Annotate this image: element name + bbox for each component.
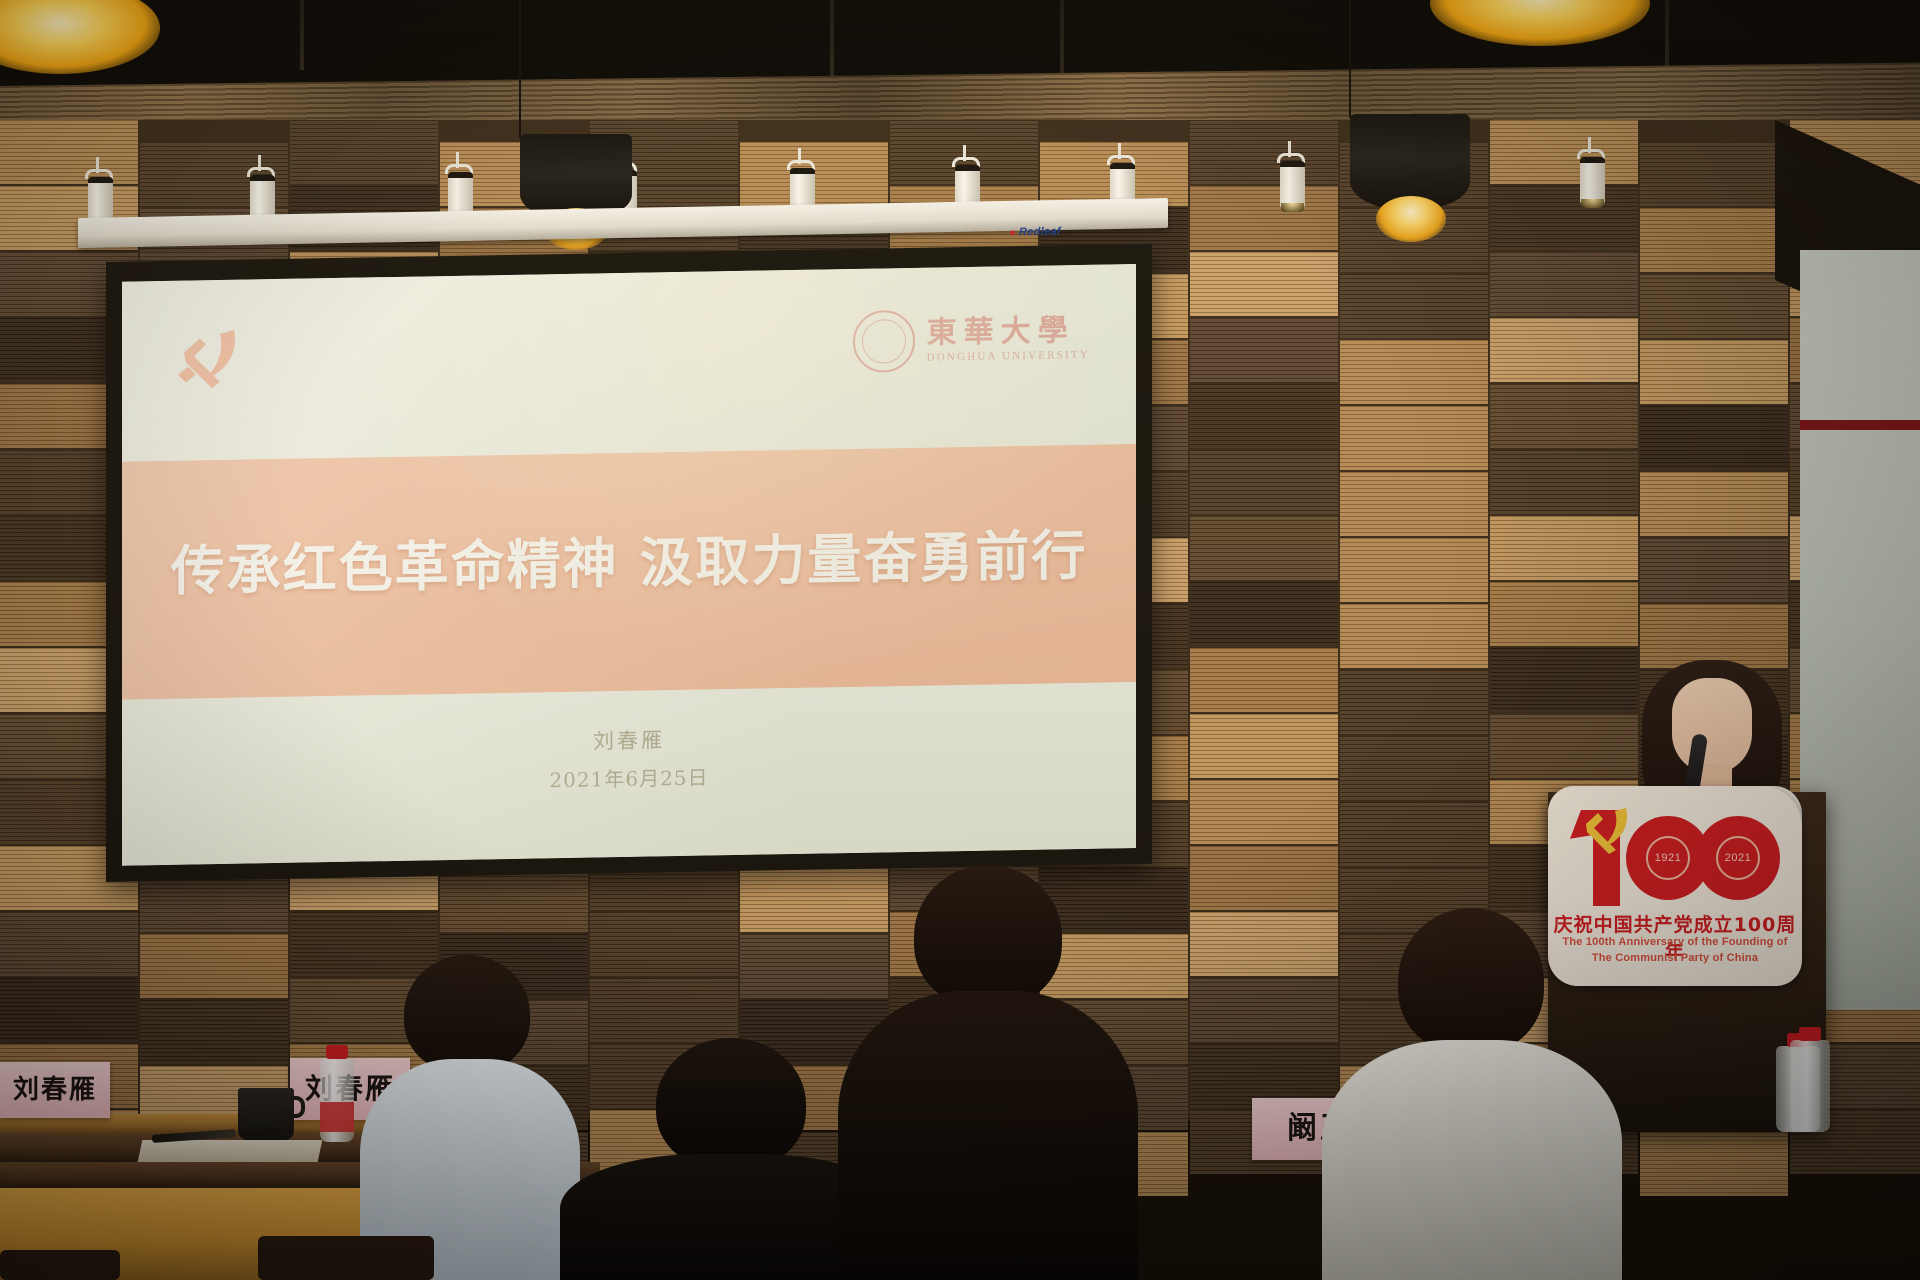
- wall-plank: [590, 978, 738, 1042]
- wall-plank: [1190, 582, 1338, 646]
- wall-plank: [1340, 736, 1488, 800]
- wall-plank: [440, 868, 588, 932]
- audience-torso: [1322, 1040, 1622, 1280]
- brand-text: Redleaf: [1019, 226, 1061, 239]
- wall-plank: [1340, 538, 1488, 602]
- wall-plank: [1190, 714, 1338, 778]
- name-card-liu-text: 刘春雁: [0, 1062, 110, 1118]
- wall-plank: [1190, 912, 1338, 976]
- wall-plank: [1490, 120, 1638, 184]
- wall-plank: [590, 912, 738, 976]
- wall-plank: [1490, 450, 1638, 514]
- wall-plank: [1490, 582, 1638, 646]
- wall-plank: [1490, 384, 1638, 448]
- wall-plank: [1190, 648, 1338, 712]
- emblem-year-start: 1921: [1646, 836, 1690, 880]
- wall-plank: [1640, 472, 1788, 536]
- ceiling-support-rod: [300, 0, 304, 70]
- audience-head: [656, 1038, 806, 1170]
- university-name-en: DONGHUA UNIVERSITY: [927, 348, 1090, 363]
- wall-plank: [1340, 274, 1488, 338]
- wall-plank: [1490, 648, 1638, 712]
- audience-person-1: [360, 955, 580, 1280]
- wall-plank: [1190, 978, 1338, 1042]
- wall-plank: [140, 1000, 288, 1064]
- hammer-and-sickle-icon: [174, 324, 246, 393]
- spotlight-body: [1580, 157, 1605, 205]
- audience-person-4: [1322, 908, 1622, 1280]
- brand-dot-icon: [1010, 230, 1015, 235]
- wall-plank: [0, 978, 138, 1042]
- wall-plank: [1490, 252, 1638, 316]
- spotlight-lens-icon: [1281, 203, 1304, 212]
- projector-brand-label: Redleaf: [1010, 226, 1061, 239]
- wall-plank: [1490, 186, 1638, 250]
- emblem-year-end: 2021: [1716, 836, 1760, 880]
- coffee-mug-left: [238, 1088, 294, 1140]
- wall-plank: [1490, 714, 1638, 778]
- wall-plank: [1490, 318, 1638, 382]
- bottle-label: [320, 1102, 354, 1132]
- spotlight-body: [1280, 161, 1305, 209]
- wall-plank: [1190, 516, 1338, 580]
- water-bottle-left: [320, 1058, 354, 1142]
- wall-plank: [1640, 142, 1788, 206]
- emblem-ring-2021: 2021: [1696, 816, 1780, 900]
- wall-plank: [1640, 340, 1788, 404]
- mug-handle: [291, 1096, 305, 1118]
- wall-plank: [1490, 516, 1638, 580]
- university-name-cn: 東華大學: [927, 315, 1090, 348]
- audience-head: [914, 865, 1062, 1007]
- university-seal-icon: [853, 310, 915, 373]
- speaker-face: [1672, 678, 1752, 774]
- audience-person-3: [838, 865, 1138, 1280]
- projection-screen-frame: 東華大學 DONGHUA UNIVERSITY 传承红色革命精神 汲取力量奋勇前…: [106, 244, 1152, 882]
- wall-plank: [0, 912, 138, 976]
- wall-plank: [1340, 802, 1488, 866]
- wall-plank: [1340, 472, 1488, 536]
- wall-plank: [1340, 406, 1488, 470]
- wall-plank: [290, 120, 438, 184]
- audience-head: [404, 955, 530, 1073]
- audience-torso: [838, 991, 1138, 1280]
- wall-plank: [1190, 384, 1338, 448]
- red-stripe: [1800, 420, 1920, 430]
- chair-dark-far-left: [0, 1250, 120, 1280]
- ceiling-support-rod: [830, 0, 834, 82]
- name-card-liu: 刘春雁: [0, 1062, 110, 1118]
- bottle-cap: [326, 1045, 348, 1059]
- emblem-hammer-sickle-icon: [1578, 804, 1634, 854]
- wall-plank: [140, 934, 288, 998]
- wall-plank: [1640, 604, 1788, 668]
- audience-head: [1398, 908, 1544, 1054]
- wall-plank: [1190, 186, 1338, 250]
- water-bottle-right: [1790, 1040, 1830, 1132]
- wall-plank: [1640, 1132, 1788, 1196]
- wall-plank: [1340, 340, 1488, 404]
- wall-plank: [1640, 274, 1788, 338]
- wall-plank: [1190, 846, 1338, 910]
- projection-screen: 東華大學 DONGHUA UNIVERSITY 传承红色革命精神 汲取力量奋勇前…: [122, 264, 1136, 866]
- chair-left: [258, 1236, 434, 1280]
- photo-scene: Redleaf 東華大學 DONGHUA UNIVERSITY: [0, 0, 1920, 1280]
- wall-plank: [1640, 208, 1788, 272]
- wall-plank: [1190, 120, 1338, 184]
- wall-plank: [1190, 780, 1338, 844]
- wall-plank: [0, 120, 138, 184]
- wall-plank: [1340, 670, 1488, 734]
- spotlight-lens-icon: [1581, 199, 1604, 208]
- wall-plank: [1190, 450, 1338, 514]
- university-logo: 東華大學 DONGHUA UNIVERSITY: [853, 307, 1090, 373]
- wall-plank: [1190, 252, 1338, 316]
- wall-plank: [1640, 406, 1788, 470]
- bottle-cap: [1799, 1027, 1821, 1041]
- wall-plank: [1190, 318, 1338, 382]
- wall-plank: [1640, 538, 1788, 602]
- notebook-left: [138, 1140, 323, 1162]
- wall-plank: [1340, 604, 1488, 668]
